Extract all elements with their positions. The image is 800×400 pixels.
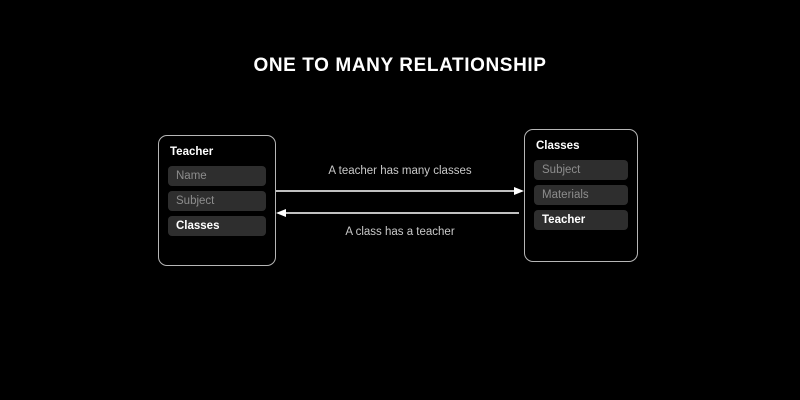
- field-row[interactable]: Name: [168, 166, 266, 186]
- field-row[interactable]: Classes: [168, 216, 266, 236]
- left-arrow-icon: [276, 209, 519, 217]
- field-list-classes: Subject Materials Teacher: [534, 160, 628, 230]
- entity-box-teacher[interactable]: Teacher Name Subject Classes: [158, 135, 276, 266]
- right-arrow-icon: [276, 187, 524, 195]
- page-title: ONE TO MANY RELATIONSHIP: [0, 55, 800, 77]
- field-row[interactable]: Subject: [168, 191, 266, 211]
- field-row[interactable]: Subject: [534, 160, 628, 180]
- field-row[interactable]: Teacher: [534, 210, 628, 230]
- relationship-group: A teacher has many classes A class has a…: [276, 160, 524, 250]
- relationship-label-reverse: A class has a teacher: [276, 226, 524, 238]
- entity-title-teacher: Teacher: [170, 146, 266, 159]
- entity-title-classes: Classes: [536, 140, 628, 153]
- field-row[interactable]: Materials: [534, 185, 628, 205]
- diagram-canvas: ONE TO MANY RELATIONSHIP Teacher Name Su…: [0, 0, 800, 400]
- entity-box-classes[interactable]: Classes Subject Materials Teacher: [524, 129, 638, 262]
- field-list-teacher: Name Subject Classes: [168, 166, 266, 236]
